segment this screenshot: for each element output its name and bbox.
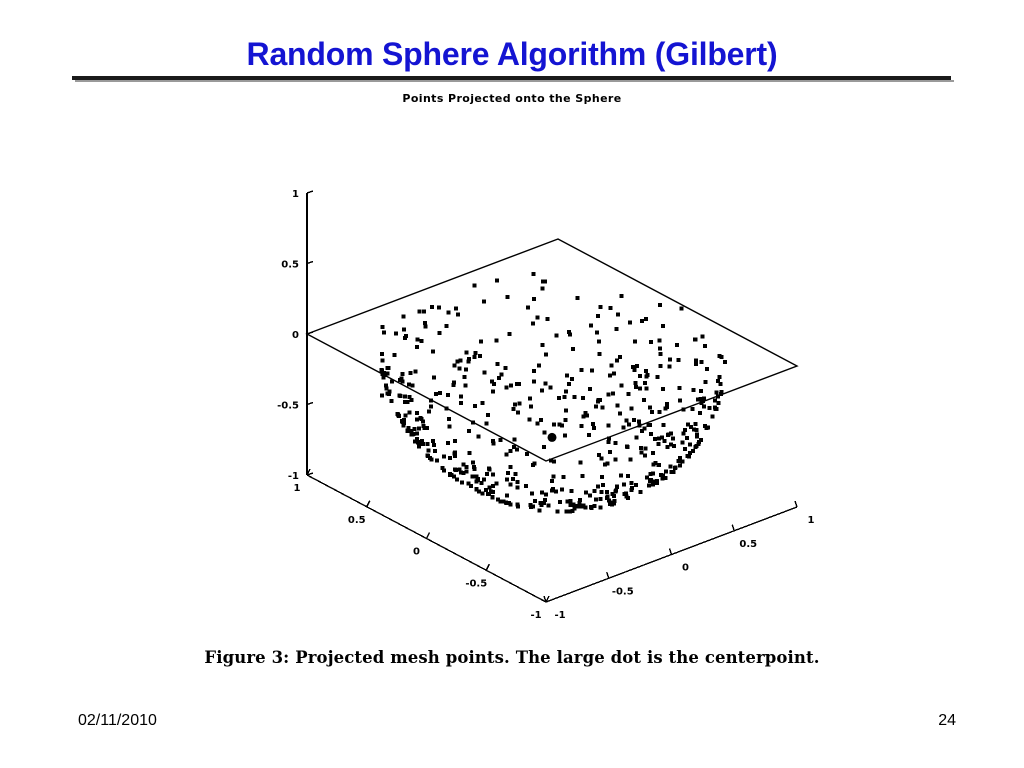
scatter-point [516,503,520,507]
scatter-point [390,379,394,383]
scatter-point [599,505,603,509]
scatter-point [448,456,452,460]
scatter-point [463,384,467,388]
scatter-point [578,460,582,464]
scatter-point [654,461,658,465]
scatter-point [652,480,656,484]
scatter-point [543,279,547,283]
scatter-point [683,428,687,432]
scatter-point [564,409,568,413]
scatter-point [656,375,660,379]
scatter-point [598,497,602,501]
scatter-point [632,418,636,422]
scatter-point [607,393,611,397]
scatter-point [644,369,648,373]
scatter-point [676,459,680,463]
scatter-point [625,419,629,423]
scatter-point [593,489,597,493]
scatter-point [465,465,469,469]
scatter-point [442,454,446,458]
scatter-point [675,343,679,347]
scatter-point [723,360,727,364]
scatter-point [581,396,585,400]
scatter-point [612,371,616,375]
scatter-point [608,374,612,378]
scatter-point [600,475,604,479]
scatter-point [699,389,703,393]
x-axis-tick [427,533,430,539]
scatter-point [669,470,673,474]
scatter-point [434,392,438,396]
scatter-point [596,314,600,318]
y-axis-tick-label: 0 [682,563,689,574]
scatter-point [580,424,584,428]
scatter-point [509,482,513,486]
scatter-point [438,331,442,335]
scatter-point [505,385,509,389]
scatter-point [564,389,568,393]
scatter-point [475,488,479,492]
scatter-point [508,332,512,336]
scatter-point [672,444,676,448]
scatter-point [435,458,439,462]
y-axis-tick [607,572,609,578]
scatter-point [512,407,516,411]
scatter-points [380,272,728,514]
scatter-point [457,366,461,370]
scatter-point [639,446,643,450]
scatter-point [661,324,665,328]
scatter-point [406,429,410,433]
scatter-point [516,480,520,484]
scatter-point [386,391,390,395]
scatter-point [438,391,442,395]
scatter-point [492,382,496,386]
scatter-point [472,355,476,359]
scatter-point [719,392,723,396]
scatter-point [432,376,436,380]
scatter-point [532,272,536,276]
scatter-point [422,310,426,314]
scatter-point [424,324,428,328]
scatter-point [535,316,539,320]
scatter-point [700,335,704,339]
scatter-point [593,504,597,508]
scatter-point [702,396,706,400]
scatter-point [638,374,642,378]
x-axis-tick-label: 0 [413,547,420,558]
scatter-point [570,377,574,381]
x-axis-tick-label: -1 [530,610,541,621]
scatter-point [399,394,403,398]
scatter-point [453,363,457,367]
scatter-point [703,344,707,348]
scatter-point [644,375,648,379]
scatter-point [459,394,463,398]
scatter-point [630,486,634,490]
scatter-point [390,399,394,403]
scatter-point [427,409,431,413]
scatter-point [660,435,664,439]
scatter-point [425,442,429,446]
scatter-point [501,499,505,503]
scatter-point [614,490,618,494]
scatter-point [718,375,722,379]
scatter-point [696,397,700,401]
scatter-point [606,440,610,444]
scatter-point [560,488,564,492]
scatter-point [669,465,673,469]
scatter-plot-3d: 10.50-0.5-110.50-0.5-1-1-0.500.51 [230,188,850,638]
scatter-point [567,330,571,334]
scatter-point [384,387,388,391]
scatter-point [629,406,633,410]
scatter-point [509,384,513,388]
scatter-point [597,453,601,457]
scatter-point [678,464,682,468]
scatter-point [597,352,601,356]
scatter-point [584,491,588,495]
scatter-point [631,365,635,369]
scatter-point [688,443,692,447]
scatter-point [629,458,633,462]
scatter-point [549,459,553,463]
scatter-point [410,433,414,437]
chart-title: Points Projected onto the Sphere [0,92,1024,105]
scatter-point [533,499,537,503]
scatter-point [454,307,458,311]
scatter-point [609,364,613,368]
scatter-point [480,401,484,405]
scatter-point [588,494,592,498]
scatter-point [401,372,405,376]
scatter-point [403,336,407,340]
scatter-point [616,404,620,408]
scatter-point [609,306,613,310]
scatter-point [407,382,411,386]
scatter-point [626,474,630,478]
scatter-point [402,315,406,319]
scatter-point [681,408,685,412]
y-axis-tick-label: -1 [554,610,565,621]
scatter-point [662,423,666,427]
x-axis-tick-label: -0.5 [465,578,487,589]
scatter-point [591,422,595,426]
scatter-point [661,474,665,478]
scatter-point [677,386,681,390]
title-underline-shadow [75,80,954,82]
scatter-point [446,441,450,445]
scatter-point [695,444,699,448]
scatter-point [509,449,513,453]
scatter-point [698,411,702,415]
scatter-point [403,394,407,398]
scatter-point [608,450,612,454]
z-axis-tick-label: 0.5 [281,260,299,271]
scatter-point [635,364,639,368]
scatter-point [476,435,480,439]
scatter-point [680,441,684,445]
scatter-point [469,484,473,488]
scatter-point [619,473,623,477]
scatter-point [694,422,698,426]
scatter-point [407,411,411,415]
scatter-point [431,439,435,443]
y-axis-tick-label: -0.5 [612,586,634,597]
scatter-point [556,510,560,514]
scatter-point [571,503,575,507]
scatter-point [605,496,609,500]
scatter-point [429,405,433,409]
scatter-point [680,306,684,310]
plot-svg: 10.50-0.5-110.50-0.5-1-1-0.500.51 [230,188,850,638]
scatter-point [471,460,475,464]
scatter-point [647,484,651,488]
scatter-point [651,451,655,455]
scatter-point [616,313,620,317]
scatter-point [516,410,520,414]
scatter-point [498,438,502,442]
scatter-point [539,418,543,422]
scatter-point [402,418,406,422]
scatter-point [399,377,403,381]
scatter-point [640,450,644,454]
scatter-point [417,427,421,431]
scatter-point [629,481,633,485]
scatter-point [634,385,638,389]
scatter-point [592,426,596,430]
scatter-point [564,418,568,422]
scatter-point [541,287,545,291]
scatter-point [411,383,415,387]
scatter-point [452,381,456,385]
scatter-point [543,431,547,435]
scatter-point [420,339,424,343]
scatter-point [396,412,400,416]
z-axis-tick-label: 0 [292,330,299,341]
scatter-point [413,370,417,374]
y-axis-tick [670,549,672,555]
scatter-point [494,481,498,485]
scatter-point [542,445,546,449]
scatter-point [587,433,591,437]
scatter-point [590,369,594,373]
scatter-point [649,432,653,436]
scatter-point [571,509,575,513]
scatter-point [421,424,425,428]
scatter-point [659,352,663,356]
scatter-point [544,381,548,385]
scatter-point [415,411,419,415]
scatter-point [580,474,584,478]
figure-container: Points Projected onto the Sphere 10.50-0… [0,88,1024,698]
scatter-point [664,469,668,473]
footer-page-number: 24 [938,712,956,730]
scatter-point [589,324,593,328]
scatter-point [713,407,717,411]
scatter-point [661,387,665,391]
scatter-point [517,382,521,386]
scatter-point [694,428,698,432]
scatter-point [415,345,419,349]
scatter-point [690,407,694,411]
scatter-point [466,359,470,363]
scatter-point [394,331,398,335]
scatter-point [620,294,624,298]
scatter-point [589,505,593,509]
scatter-point [491,389,495,393]
scatter-point [380,368,384,372]
scatter-point [508,502,512,506]
scatter-point [705,367,709,371]
scatter-point [532,297,536,301]
scatter-point [594,497,598,501]
scatter-point [719,382,723,386]
scatter-point [380,352,384,356]
scatter-point [471,475,475,479]
scatter-point [576,296,580,300]
scatter-point [607,437,611,441]
scatter-point [597,340,601,344]
scatter-point [633,339,637,343]
scatter-point [595,331,599,335]
scatter-point [547,504,551,508]
scatter-point [529,405,533,409]
scatter-point [524,484,528,488]
scatter-point [634,483,638,487]
scatter-point [531,321,535,325]
scatter-point [613,441,617,445]
scatter-point [611,501,615,505]
scatter-point [563,434,567,438]
scatter-point [444,407,448,411]
scatter-point [427,449,431,453]
scatter-point [658,303,662,307]
scatter-point [529,505,533,509]
scatter-point [545,317,549,321]
scatter-point [653,437,657,441]
x-axis-tick [367,501,370,507]
scatter-point [467,451,471,455]
scatter-point [628,321,632,325]
scatter-point [409,371,413,375]
scatter-point [638,387,642,391]
scatter-point [643,454,647,458]
scatter-point [511,477,515,481]
scatter-point [525,452,529,456]
scatter-point [526,306,530,310]
scatter-point [495,339,499,343]
scatter-point [420,439,424,443]
scatter-point [703,380,707,384]
scatter-point [527,418,531,422]
scatter-point [416,338,420,342]
scatter-point [500,373,504,377]
scatter-point [633,381,637,385]
scatter-point [588,387,592,391]
y-axis-tick-label: 0.5 [739,539,757,550]
scatter-point [440,466,444,470]
scatter-point [472,467,476,471]
scatter-point [713,399,717,403]
scatter-point [651,471,655,475]
scatter-point [486,413,490,417]
scatter-point [410,398,414,402]
scatter-point [658,339,662,343]
scatter-point [643,381,647,385]
scatter-point [618,355,622,359]
scatter-point [548,385,552,389]
scatter-point [382,376,386,380]
scatter-point [579,368,583,372]
scatter-point [644,317,648,321]
page-title: Random Sphere Algorithm (Gilbert) [72,36,952,72]
scatter-point [464,351,468,355]
scatter-point [471,421,475,425]
scatter-point [505,478,509,482]
scatter-point [464,367,468,371]
centerpoint-marker [548,433,557,442]
scatter-point [485,472,489,476]
reference-plane-outline [307,239,797,461]
scatter-point [627,423,631,427]
scatter-point [615,485,619,489]
scatter-point [491,439,495,443]
scatter-point [506,471,510,475]
scatter-point [432,443,436,447]
scatter-point [431,349,435,353]
scatter-point [474,351,478,355]
scatter-point [691,449,695,453]
scatter-point [393,353,397,357]
scatter-point [484,488,488,492]
scatter-point [648,406,652,410]
scatter-point [403,400,407,404]
scatter-point [540,389,544,393]
scatter-point [453,451,457,455]
scatter-point [640,429,644,433]
scatter-point [567,382,571,386]
scatter-point [447,311,451,315]
scatter-point [668,358,672,362]
scatter-point [531,463,535,467]
scatter-point [479,339,483,343]
scatter-point [448,472,452,476]
scatter-point [506,295,510,299]
scatter-point [624,492,628,496]
x-axis-tick [486,564,489,570]
scatter-point [666,445,670,449]
scatter-point [489,490,493,494]
scatter-point [532,380,536,384]
scatter-point [491,473,495,477]
scatter-point [495,362,499,366]
scatter-point [615,358,619,362]
scatter-point [425,426,429,430]
scatter-point [673,465,677,469]
scatter-point [640,319,644,323]
scatter-point [572,395,576,399]
x-axis-tick-label: 1 [294,483,301,494]
scatter-point [485,422,489,426]
scatter-point [665,402,669,406]
scatter-point [429,399,433,403]
scatter-point [385,372,389,376]
scatter-point [659,364,663,368]
y-axis-tick-label: 1 [808,515,815,526]
scatter-point [453,468,457,472]
scatter-point [433,449,437,453]
